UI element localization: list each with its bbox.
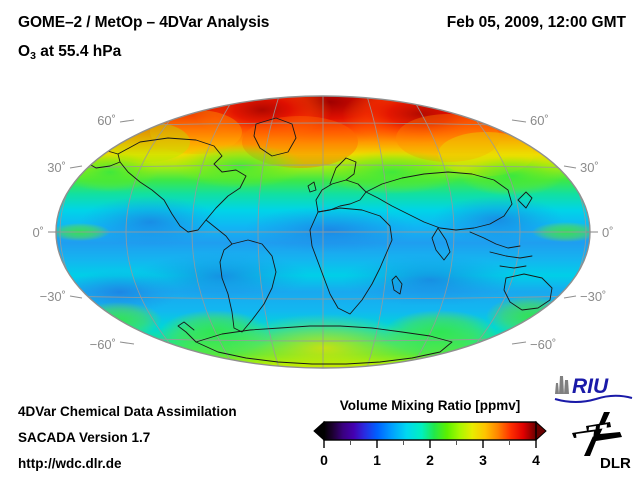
dlr-mark-icon — [572, 412, 622, 456]
footer-line-1: 4DVar Chemical Data Assimilation — [18, 404, 237, 419]
lat-label-inner-m60-left: −60˚ — [90, 337, 116, 352]
footer-url[interactable]: http://wdc.dlr.de — [18, 456, 122, 471]
timestamp: Feb 05, 2009, 12:00 GMT — [447, 14, 626, 32]
lat-label-inner-60-right: 60˚ — [530, 113, 549, 128]
lat-label-right-m30: −30˚ — [580, 289, 606, 304]
colorbar-major-ticks — [324, 440, 536, 448]
colorbar-tick-1: 1 — [373, 452, 381, 468]
lat-label-right-30: 30˚ — [580, 160, 599, 175]
figure-canvas: GOME–2 / MetOp – 4DVar Analysis O3 at 55… — [0, 0, 640, 480]
lat-label-left-0: 0˚ — [32, 225, 44, 240]
riu-logo-text: RIU — [572, 375, 609, 398]
subtitle-subscript: 3 — [30, 50, 36, 62]
lat-label-left-30: 30˚ — [47, 160, 66, 175]
lat-label-left-m30: −30˚ — [40, 289, 66, 304]
page-subtitle: O3 at 55.4 hPa — [18, 43, 121, 61]
lat-label-inner-m60-right: −60˚ — [530, 337, 556, 352]
colorbar-cap-high — [536, 422, 546, 440]
dlr-logo[interactable]: DLR — [566, 410, 636, 472]
riu-logo[interactable]: RIU — [552, 374, 634, 404]
colorbar-ramp — [324, 422, 536, 440]
subtitle-level: at 55.4 hPa — [36, 43, 121, 60]
subtitle-species: O — [18, 43, 30, 60]
page-title: GOME–2 / MetOp – 4DVar Analysis — [18, 14, 269, 32]
colorbar-tick-3: 3 — [479, 452, 487, 468]
dlr-logo-text: DLR — [600, 455, 631, 472]
lat-label-inner-60-left: 60˚ — [97, 113, 116, 128]
colorbar-tick-4: 4 — [532, 452, 540, 468]
riu-tower-icon — [555, 376, 569, 394]
colorbar-tick-0: 0 — [320, 452, 328, 468]
lat-label-right-0: 0˚ — [602, 225, 614, 240]
colorbar-title: Volume Mixing Ratio [ppmv] — [310, 398, 550, 413]
colorbar: Volume Mixing Ratio [ppmv] — [310, 398, 550, 476]
ozone-field — [50, 80, 600, 380]
footer-line-2: SACADA Version 1.7 — [18, 430, 150, 445]
colorbar-tick-2: 2 — [426, 452, 434, 468]
colorbar-cap-low — [314, 422, 324, 440]
world-map: 0˚ 30˚ −30˚ 0˚ 30˚ −30˚ 60˚ 60˚ −60˚ −60… — [0, 80, 640, 380]
